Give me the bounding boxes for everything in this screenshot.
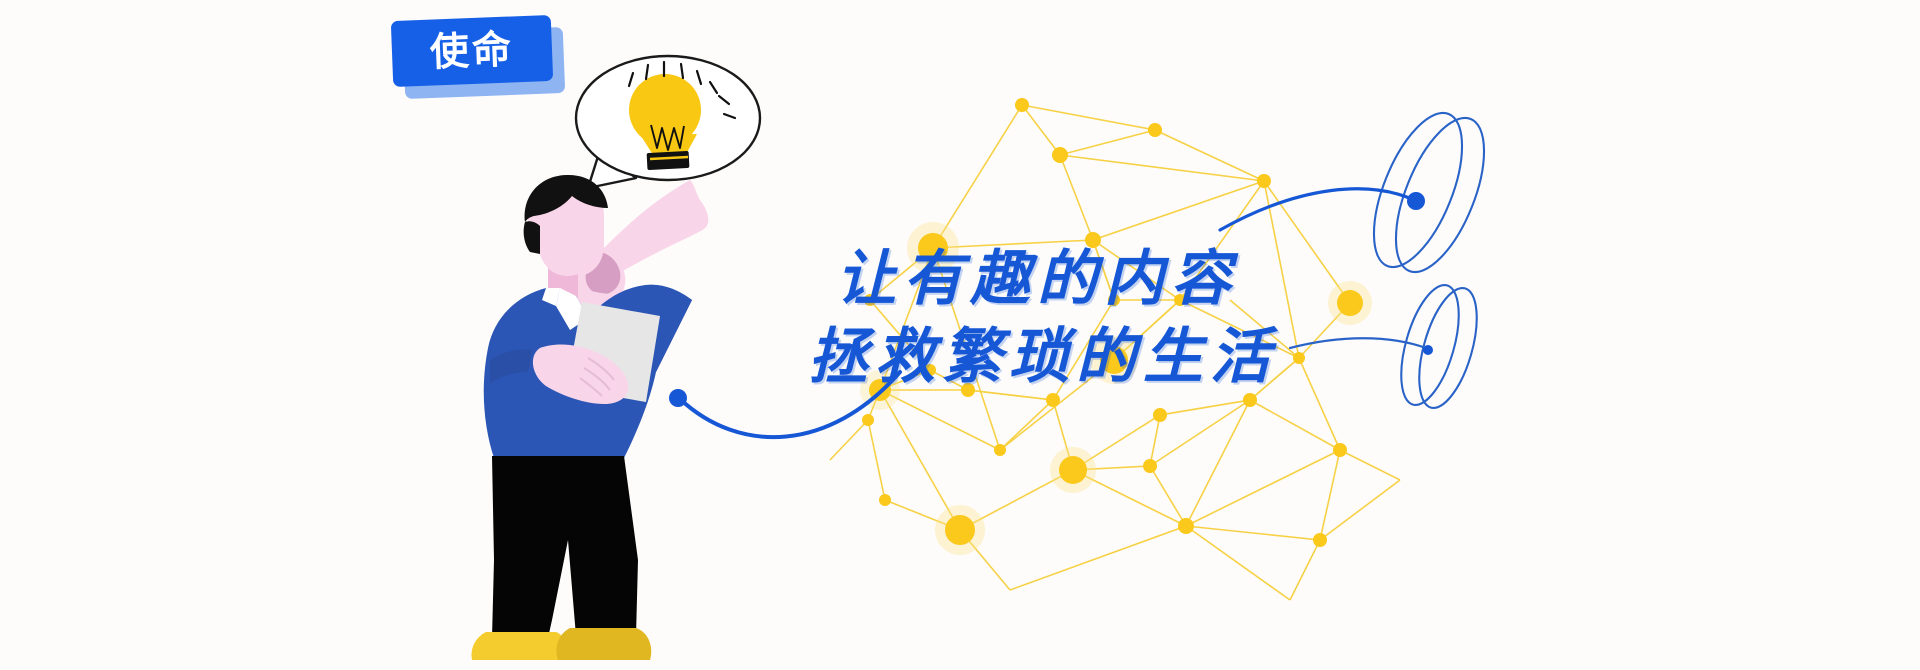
person-shoes bbox=[472, 628, 652, 660]
headline: 让有趣的内容 拯救繁琐的生活 bbox=[836, 240, 1536, 396]
headline-line-1: 让有趣的内容 bbox=[836, 240, 1536, 318]
mission-banner: 使命 让有趣的内容 拯救繁琐的生活 bbox=[0, 0, 1920, 670]
person-pants bbox=[492, 456, 638, 638]
idea-speech-bubble bbox=[576, 56, 760, 188]
headline-line-2: 拯救繁琐的生活 bbox=[808, 318, 1536, 396]
